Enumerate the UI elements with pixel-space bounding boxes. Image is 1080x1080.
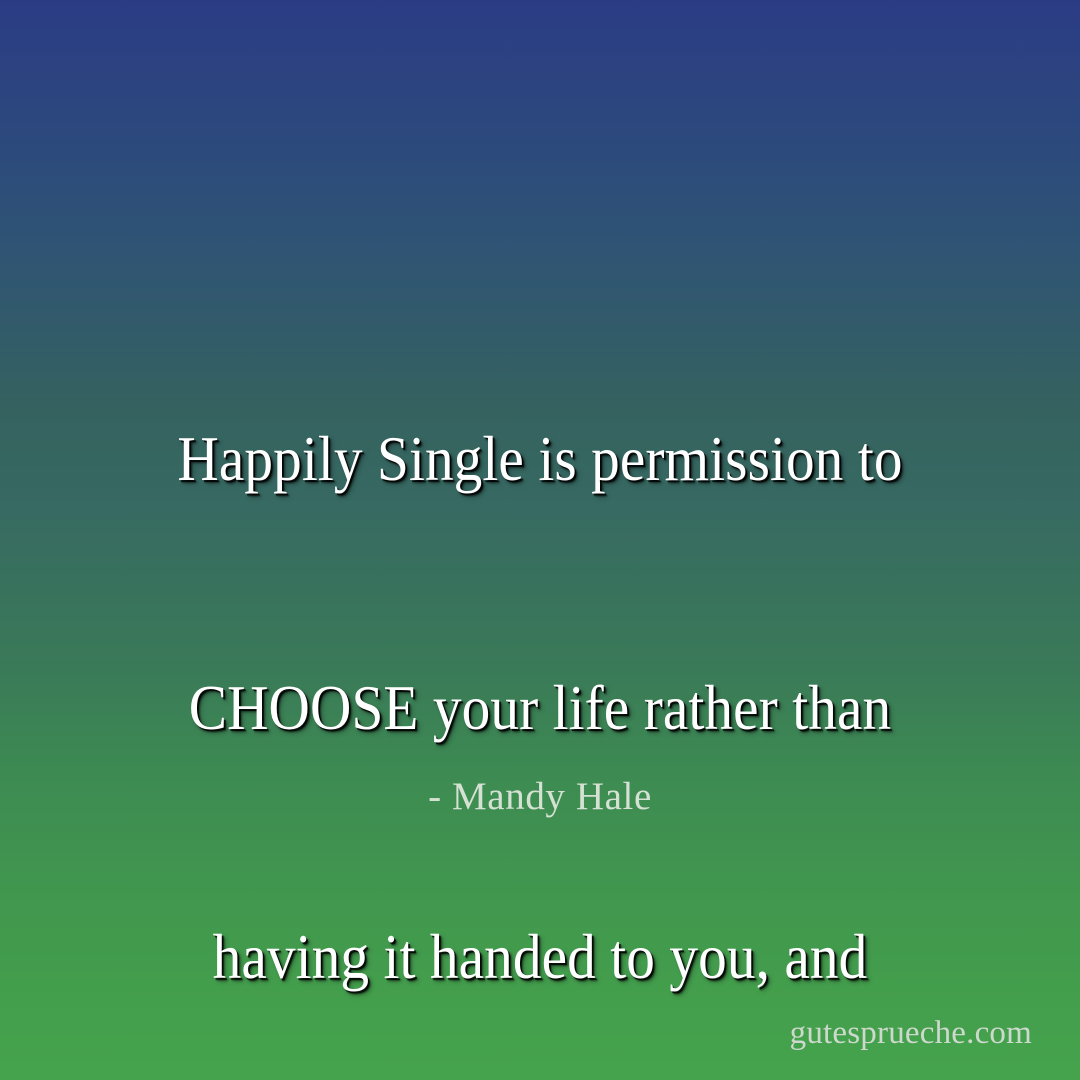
quote-image-card: Happily Single is permission to CHOOSE y…	[0, 0, 1080, 1080]
quote-line-3: having it handed to you, and	[57, 915, 1024, 998]
quote-attribution: - Mandy Hale	[0, 772, 1080, 822]
quote-text-block: Happily Single is permission to CHOOSE y…	[57, 251, 1024, 1080]
quote-line-1: Happily Single is permission to	[57, 417, 1024, 500]
site-watermark: gutesprueche.com	[790, 1014, 1032, 1052]
quote-line-2: CHOOSE your life rather than	[57, 666, 1024, 749]
